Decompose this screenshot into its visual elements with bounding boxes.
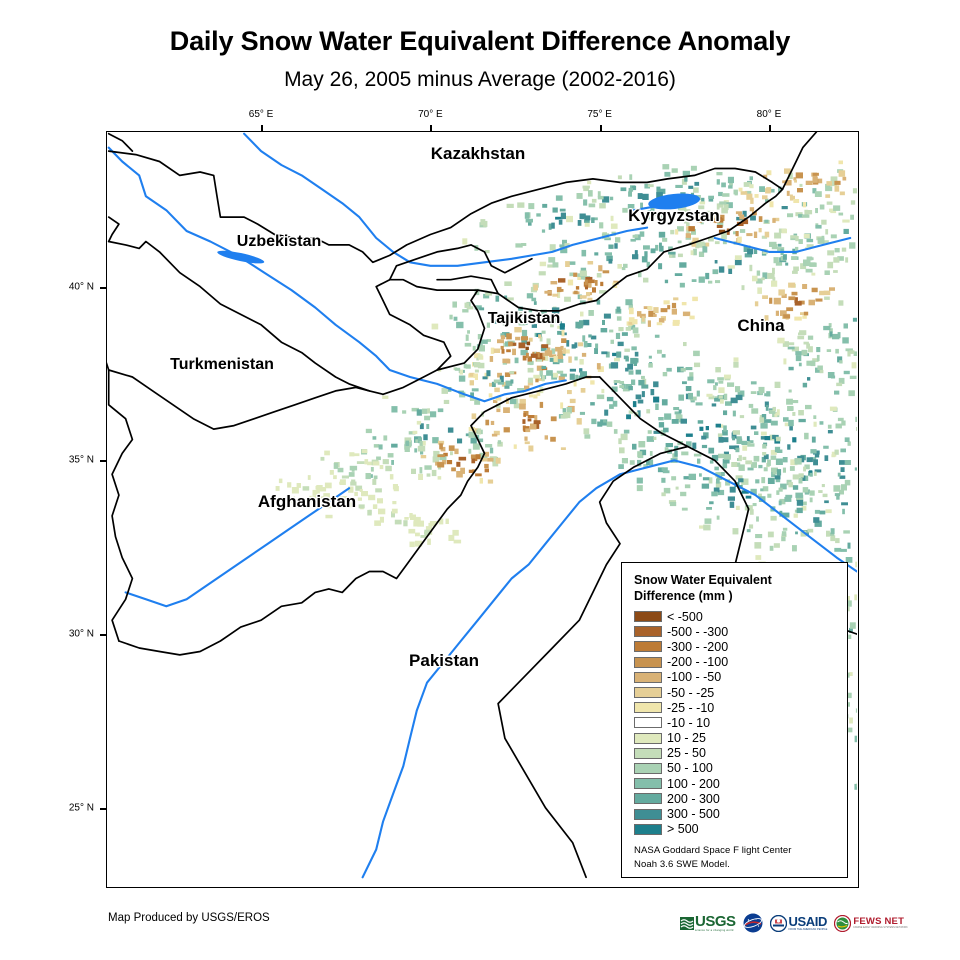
- latitude-tick-label: 30° N: [69, 629, 94, 640]
- legend-title-line2: Difference (mm ): [634, 588, 837, 604]
- usgs-logo: USGS science for a changing world: [680, 910, 736, 936]
- usgs-label: USGS: [695, 914, 736, 929]
- legend-entry: 300 - 500: [634, 806, 837, 821]
- legend-swatch: [634, 793, 662, 804]
- legend-swatch: [634, 641, 662, 652]
- agency-logos: USGS science for a changing world: [680, 909, 908, 937]
- legend-entry-label: -100 - -50: [667, 670, 721, 684]
- longitude-tick: [261, 125, 263, 132]
- legend-entry-label: 25 - 50: [667, 746, 706, 760]
- legend-swatch: [634, 687, 662, 698]
- latitude-tick: [100, 460, 107, 462]
- legend-entry-label: -300 - -200: [667, 640, 728, 654]
- legend-entry: -50 - -25: [634, 685, 837, 700]
- legend-entry: -200 - -100: [634, 655, 837, 670]
- fews-label: FEWS NET: [853, 917, 907, 927]
- legend-entry: 10 - 25: [634, 731, 837, 746]
- legend-entries: < -500-500 - -300-300 - -200-200 - -100-…: [634, 609, 837, 837]
- nasa-logo: [743, 910, 763, 936]
- latitude-tick: [100, 808, 107, 810]
- legend-entry-label: -25 - -10: [667, 701, 714, 715]
- legend-entry-label: 50 - 100: [667, 761, 713, 775]
- legend-title: Snow Water Equivalent Difference (mm ): [634, 572, 837, 604]
- legend-entry: -25 - -10: [634, 700, 837, 715]
- latitude-tick: [100, 287, 107, 289]
- latitude-tick-label: 25° N: [69, 802, 94, 813]
- longitude-tick-label: 70° E: [418, 109, 443, 120]
- usaid-label-text: USAID: [789, 914, 827, 929]
- nasa-meatball-icon: [743, 913, 763, 933]
- legend-entry: > 500: [634, 822, 837, 837]
- usgs-tagline: science for a changing world: [695, 929, 736, 932]
- legend-footer-line1: NASA Goddard Space F light Center: [634, 844, 837, 858]
- legend-entry-label: -50 - -25: [667, 686, 714, 700]
- legend-entry: 50 - 100: [634, 761, 837, 776]
- longitude-tick-label: 80° E: [757, 109, 782, 120]
- legend-entry-label: -10 - 10: [667, 716, 710, 730]
- legend-title-line1: Snow Water Equivalent: [634, 572, 837, 588]
- legend-swatch: [634, 657, 662, 668]
- usaid-logo: USAID FROM THE AMERICAN PEOPLE: [770, 910, 828, 936]
- legend-swatch: [634, 763, 662, 774]
- legend-entry: -300 - -200: [634, 639, 837, 654]
- page-subtitle: May 26, 2005 minus Average (2002-2016): [0, 68, 960, 92]
- legend-swatch: [634, 748, 662, 759]
- longitude-tick: [769, 125, 771, 132]
- legend-swatch: [634, 626, 662, 637]
- latitude-tick-label: 40° N: [69, 281, 94, 292]
- usaid-tagline: FROM THE AMERICAN PEOPLE: [789, 928, 828, 931]
- legend-entry: 200 - 300: [634, 791, 837, 806]
- legend-entry: -100 - -50: [634, 670, 837, 685]
- usaid-seal-icon: [770, 915, 787, 932]
- legend-swatch: [634, 717, 662, 728]
- legend-entry-label: > 500: [667, 822, 699, 836]
- longitude-tick: [600, 125, 602, 132]
- map-credit: Map Produced by USGS/EROS: [108, 912, 270, 924]
- legend-swatch: [634, 824, 662, 835]
- legend-panel: Snow Water Equivalent Difference (mm ) <…: [621, 562, 848, 878]
- legend-entry: 100 - 200: [634, 776, 837, 791]
- legend-entry: -500 - -300: [634, 624, 837, 639]
- longitude-tick-label: 75° E: [587, 109, 612, 120]
- latitude-tick: [100, 634, 107, 636]
- legend-entry-label: 300 - 500: [667, 807, 720, 821]
- legend-swatch: [634, 611, 662, 622]
- legend-entry-label: 200 - 300: [667, 792, 720, 806]
- legend-entry-label: 100 - 200: [667, 777, 720, 791]
- legend-entry-label: -200 - -100: [667, 655, 728, 669]
- usaid-label: USAID: [789, 915, 828, 928]
- page-title: Daily Snow Water Equivalent Difference A…: [0, 26, 960, 57]
- legend-entry-label: < -500: [667, 610, 703, 624]
- legend-entry: -10 - 10: [634, 715, 837, 730]
- legend-entry-label: 10 - 25: [667, 731, 706, 745]
- longitude-tick-label: 65° E: [249, 109, 274, 120]
- legend-swatch: [634, 778, 662, 789]
- latitude-tick-label: 35° N: [69, 455, 94, 466]
- longitude-tick: [430, 125, 432, 132]
- fews-tagline: FAMINE EARLY WARNING SYSTEMS NETWORK: [853, 926, 907, 929]
- fews-logo: FEWS NET FAMINE EARLY WARNING SYSTEMS NE…: [834, 910, 907, 936]
- fews-globe-icon: [834, 915, 851, 932]
- legend-swatch: [634, 809, 662, 820]
- legend-swatch: [634, 733, 662, 744]
- usgs-wave-icon: [680, 917, 694, 930]
- legend-swatch: [634, 672, 662, 683]
- legend-footer: NASA Goddard Space F light Center Noah 3…: [634, 844, 837, 872]
- legend-entry-label: -500 - -300: [667, 625, 728, 639]
- legend-swatch: [634, 702, 662, 713]
- legend-footer-line2: Noah 3.6 SWE Model.: [634, 858, 837, 872]
- legend-entry: < -500: [634, 609, 837, 624]
- legend-entry: 25 - 50: [634, 746, 837, 761]
